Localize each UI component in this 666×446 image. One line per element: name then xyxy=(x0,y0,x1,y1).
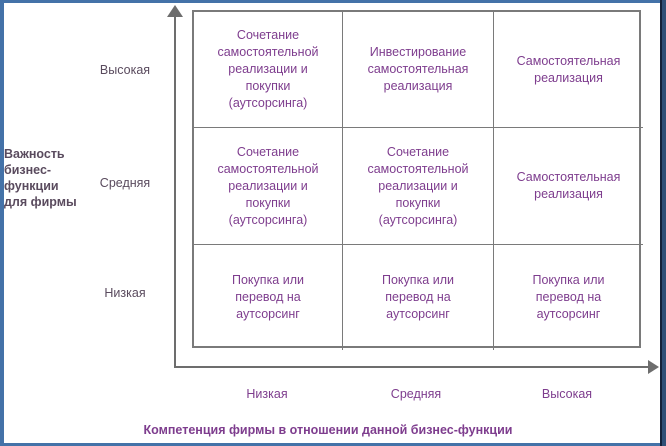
y-axis-tick-medium: Средняя xyxy=(80,175,170,191)
matrix-cell-high-high: Самостоятельная реализация xyxy=(494,12,643,128)
y-axis-tick-high: Высокая xyxy=(80,62,170,78)
matrix-cell-high-medium: Инвестирование самостоятельная реализаци… xyxy=(343,12,494,128)
y-axis-title: Важность бизнес- функции для фирмы xyxy=(4,146,92,210)
frame-border-right xyxy=(662,0,666,446)
x-axis-tick-medium: Средняя xyxy=(341,387,491,401)
matrix-cell-medium-low: Сочетание самостоятельной реализации и п… xyxy=(194,128,343,245)
y-axis-tick-low: Низкая xyxy=(80,285,170,301)
matrix-cell-high-low: Сочетание самостоятельной реализации и п… xyxy=(194,12,343,128)
strategy-matrix: Сочетание самостоятельной реализации и п… xyxy=(192,10,641,348)
x-axis-line xyxy=(174,366,650,368)
matrix-cell-low-medium: Покупка или перевод на аутсорсинг xyxy=(343,245,494,350)
frame-border-right-inner xyxy=(660,0,662,446)
x-axis-tick-low: Низкая xyxy=(192,387,342,401)
matrix-cell-low-low: Покупка или перевод на аутсорсинг xyxy=(194,245,343,350)
matrix-diagram-page: Важность бизнес- функции для фирмы Высок… xyxy=(0,0,666,446)
x-axis-tick-high: Высокая xyxy=(492,387,642,401)
arrow-right-icon xyxy=(648,360,659,374)
matrix-cell-low-high: Покупка или перевод на аутсорсинг xyxy=(494,245,643,350)
matrix-cell-medium-medium: Сочетание самостоятельной реализации и п… xyxy=(343,128,494,245)
matrix-cell-medium-high: Самостоятельная реализация xyxy=(494,128,643,245)
y-axis-line xyxy=(174,14,176,368)
x-axis-title: Компетенция фирмы в отношении данной биз… xyxy=(0,423,656,437)
frame-border-left xyxy=(0,0,4,446)
frame-border-top xyxy=(0,0,666,3)
